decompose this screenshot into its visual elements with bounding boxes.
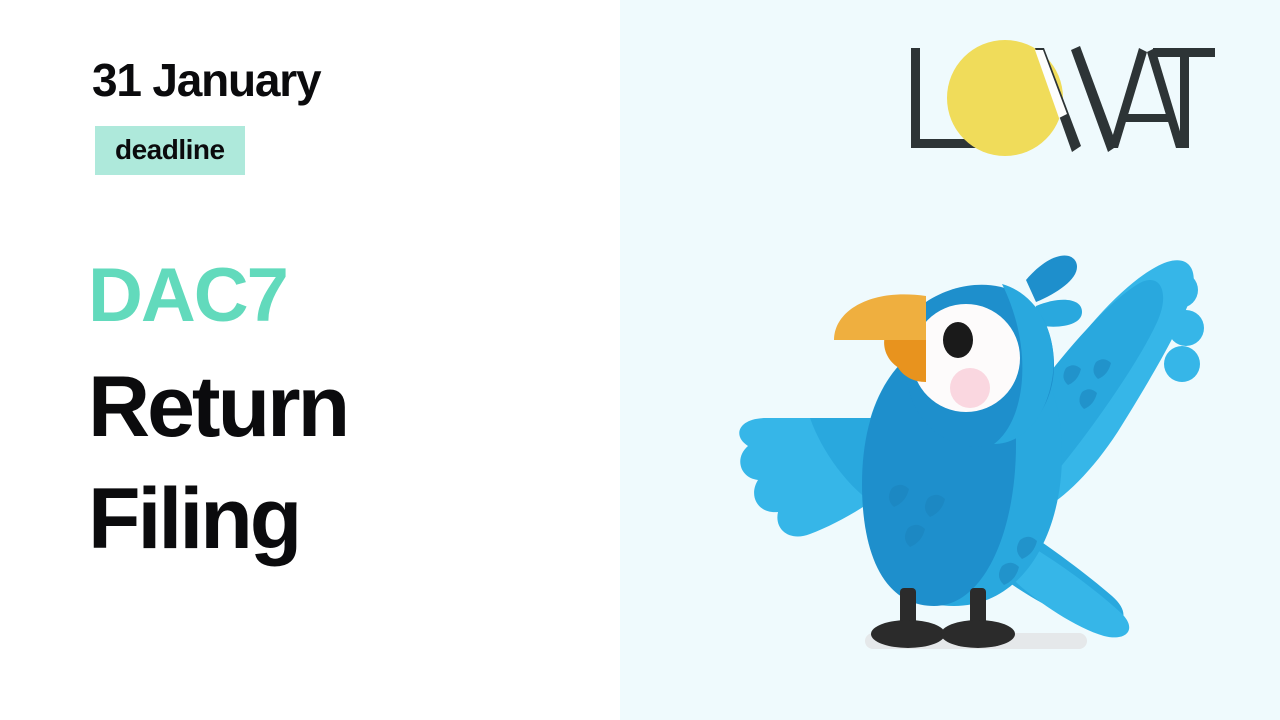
illustration-panel bbox=[620, 0, 1280, 720]
cheek-blush bbox=[950, 368, 990, 408]
headline-line-1: Return bbox=[88, 352, 347, 464]
deadline-date: 31 January bbox=[92, 53, 320, 107]
headline-line-2: Filing bbox=[88, 464, 347, 576]
headline-tag-dac7: DAC7 bbox=[88, 258, 347, 334]
deadline-badge: deadline bbox=[95, 126, 245, 175]
lovat-logo bbox=[895, 28, 1215, 173]
logo-letter-a bbox=[1109, 48, 1185, 148]
beak-upper bbox=[834, 294, 926, 340]
parrot-mascot bbox=[730, 240, 1210, 680]
text-panel: 31 January deadline DAC7 Return Filing bbox=[0, 0, 620, 720]
headline-block: DAC7 Return Filing bbox=[88, 258, 347, 576]
promo-banner: 31 January deadline DAC7 Return Filing bbox=[0, 0, 1280, 720]
eye bbox=[943, 322, 973, 358]
